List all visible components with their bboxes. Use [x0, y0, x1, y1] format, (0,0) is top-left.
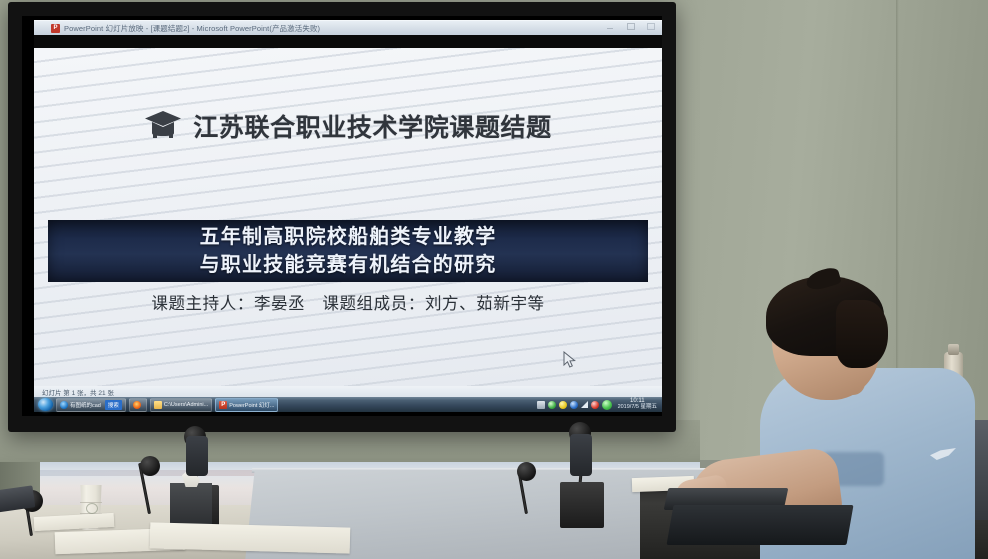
folder-icon: [154, 401, 162, 409]
taskbar-item-firefox[interactable]: [129, 398, 147, 412]
maximize-button[interactable]: [625, 22, 636, 31]
window-titlebar[interactable]: P PowerPoint 幻灯片放映 - [课题结题2] - Microsoft…: [34, 20, 662, 36]
powerpoint-statusbar: 幻灯片 第 1 张，共 21 张: [34, 386, 662, 397]
slide-title: 江苏联合职业技术学院课题结题: [193, 108, 551, 144]
taskbar-item-label: C:\Users\Admini...: [164, 402, 208, 408]
powerpoint-icon: P: [51, 24, 60, 33]
shield-green-icon[interactable]: [548, 401, 556, 409]
info-blue-icon[interactable]: [570, 401, 578, 409]
taskbar-item-powerpoint[interactable]: P PowerPoint 幻灯...: [215, 398, 278, 412]
graduation-cap-icon: [144, 109, 182, 144]
conference-room-scene: P PowerPoint 幻灯片放映 - [课题结题2] - Microsoft…: [0, 0, 988, 559]
microphone-head: [140, 456, 160, 476]
qq-penguin-icon[interactable]: [602, 400, 612, 410]
slide-counter: 幻灯片 第 1 张，共 21 张: [42, 387, 114, 397]
powerpoint-window[interactable]: P PowerPoint 幻灯片放映 - [课题结题2] - Microsoft…: [34, 20, 662, 412]
cup-logo: [86, 503, 98, 514]
close-button[interactable]: [645, 22, 656, 31]
microphone-base: [560, 482, 604, 528]
microphone: [148, 462, 151, 514]
slide-banner: 五年制高职院校船舶类专业教学 与职业技能竞赛有机结合的研究: [48, 220, 648, 282]
volume-red-icon[interactable]: [591, 401, 599, 409]
documents: [150, 522, 351, 553]
display-panel: P PowerPoint 幻灯片放映 - [课题结题2] - Microsoft…: [22, 16, 662, 416]
system-tray[interactable]: 10:11 2019/7/5 星期五: [537, 398, 662, 410]
internet-explorer-icon: [60, 401, 68, 409]
laptop: [666, 505, 853, 545]
window-controls[interactable]: [605, 22, 656, 31]
chair-back: [570, 434, 592, 476]
microphone-head: [517, 462, 536, 481]
clock[interactable]: 10:11 2019/7/5 星期五: [618, 398, 660, 410]
search-button[interactable]: 搜索: [105, 400, 122, 410]
wall-display: P PowerPoint 幻灯片放映 - [课题结题2] - Microsoft…: [8, 2, 676, 432]
microphone: [525, 468, 528, 514]
start-button[interactable]: [38, 398, 53, 411]
bottle-cap: [948, 344, 959, 355]
network-signal-icon[interactable]: [581, 401, 588, 408]
banner-line-2: 与职业技能竞赛有机结合的研究: [200, 251, 497, 279]
warning-yellow-icon[interactable]: [559, 401, 567, 409]
banner-line-1: 五年制高职院校船舶类专业教学: [200, 223, 497, 251]
minimize-button[interactable]: [605, 22, 616, 31]
arrow-cursor: [563, 351, 576, 374]
taskbar-item-internet-explorer[interactable]: 有图纸的cad 搜索: [56, 398, 126, 412]
slide-canvas[interactable]: 江苏联合职业技术学院课题结题 五年制高职院校船舶类专业教学 与职业技能竞赛有机结…: [34, 48, 662, 386]
powerpoint-icon: P: [219, 401, 227, 409]
chair-back: [186, 436, 208, 476]
slide-presenters: 课题主持人：李晏丞 课题组成员：刘方、茹新宇等: [34, 290, 662, 314]
ime-icon[interactable]: [537, 401, 545, 409]
taskbar-item-explorer-folder[interactable]: C:\Users\Admini...: [150, 398, 212, 412]
windows-taskbar[interactable]: 有图纸的cad 搜索 C:\Users\Admini... P PowerPoi…: [34, 397, 662, 412]
clock-date: 2019/7/5 星期五: [618, 405, 657, 411]
ribbon-hidden-strip: [34, 35, 662, 48]
window-title: PowerPoint 幻灯片放映 - [课题结题2] - Microsoft P…: [64, 23, 320, 34]
firefox-icon: [133, 401, 141, 409]
taskbar-item-label: 有图纸的cad: [70, 401, 101, 409]
slide-header: 江苏联合职业技术学院课题结题: [34, 108, 662, 144]
taskbar-item-label: PowerPoint 幻灯...: [229, 401, 274, 409]
person-hair-back: [836, 300, 888, 368]
